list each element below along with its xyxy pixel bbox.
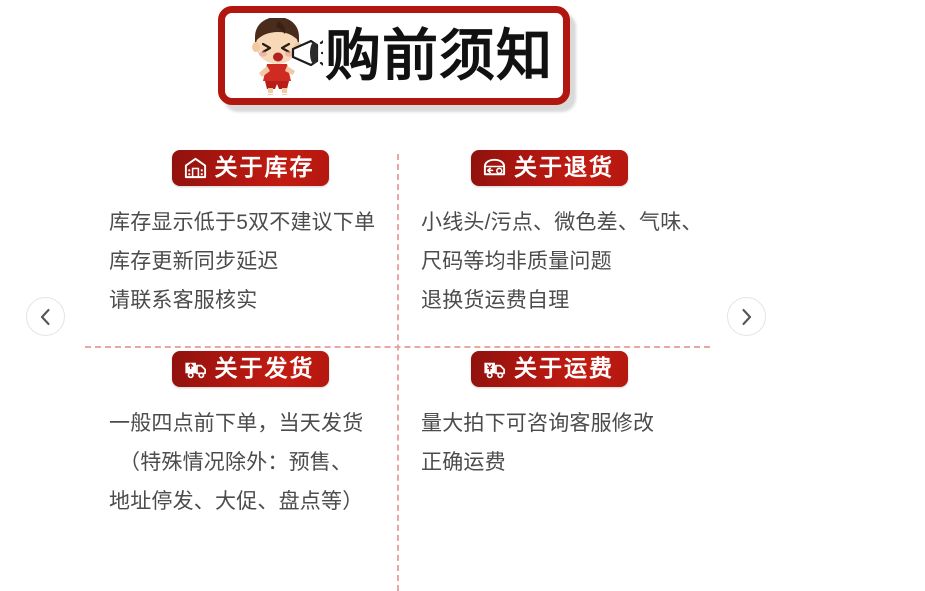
badge-stock: 关于库存 [172, 150, 329, 186]
notice-line: 请联系客服核实 [109, 281, 415, 320]
section-stock-header: 关于库存 [85, 150, 415, 186]
badge-returns: 关于退货 [471, 150, 628, 186]
notice-line: （特殊情况除外：预售、 [109, 443, 415, 482]
notice-line: 尺码等均非质量问题 [421, 242, 738, 281]
section-returns-lines: 小线头/污点、微色差、气味、 尺码等均非质量问题 退换货运费自理 [408, 203, 738, 320]
notice-grid: 关于库存 库存显示低于5双不建议下单 库存更新同步延迟 请联系客服核实 [0, 150, 925, 591]
section-freight: 关于运费 量大拍下可咨询客服修改 正确运费 [408, 351, 738, 482]
section-returns-header: 关于退货 [408, 150, 738, 186]
return-parcel-icon [482, 155, 507, 180]
notice-line: 库存更新同步延迟 [109, 242, 415, 281]
page-title: 购前须知 [325, 28, 553, 84]
section-freight-lines: 量大拍下可咨询客服修改 正确运费 [408, 404, 738, 482]
section-stock-lines: 库存显示低于5双不建议下单 库存更新同步延迟 请联系客服核实 [85, 203, 415, 320]
notice-line: 正确运费 [421, 443, 738, 482]
badge-freight: 关于运费 [471, 351, 628, 387]
badge-freight-label: 关于运费 [514, 357, 614, 380]
banner-frame: 购前须知 [218, 6, 570, 105]
badge-shipping-label: 关于发货 [215, 357, 315, 380]
section-shipping-lines: 一般四点前下单，当天发货 （特殊情况除外：预售、 地址停发、大促、盘点等） [85, 404, 415, 521]
section-returns: 关于退货 小线头/污点、微色差、气味、 尺码等均非质量问题 退换货运费自理 [408, 150, 738, 320]
section-shipping-header: 关于发货 [85, 351, 415, 387]
section-stock: 关于库存 库存显示低于5双不建议下单 库存更新同步延迟 请联系客服核实 [85, 150, 415, 320]
notice-line: 量大拍下可咨询客服修改 [421, 404, 738, 443]
badge-stock-label: 关于库存 [215, 156, 315, 179]
notice-line: 退换货运费自理 [421, 281, 738, 320]
buying-notice-page: 购前须知 [0, 0, 925, 591]
badge-returns-label: 关于退货 [514, 156, 614, 179]
boy-with-megaphone-icon [237, 15, 323, 97]
notice-line: 一般四点前下单，当天发货 [109, 404, 415, 443]
badge-shipping: 关于发货 [172, 351, 329, 387]
warehouse-icon [183, 155, 208, 180]
notice-line: 地址停发、大促、盘点等） [109, 482, 415, 521]
notice-line: 小线头/污点、微色差、气味、 [421, 203, 738, 242]
delivery-truck-icon [183, 356, 208, 381]
truck-with-yuan-icon [482, 356, 507, 381]
header-banner: 购前须知 [218, 6, 570, 105]
notice-line: 库存显示低于5双不建议下单 [109, 203, 415, 242]
section-freight-header: 关于运费 [408, 351, 738, 387]
section-shipping: 关于发货 一般四点前下单，当天发货 （特殊情况除外：预售、 地址停发、大促、盘点… [85, 351, 415, 521]
